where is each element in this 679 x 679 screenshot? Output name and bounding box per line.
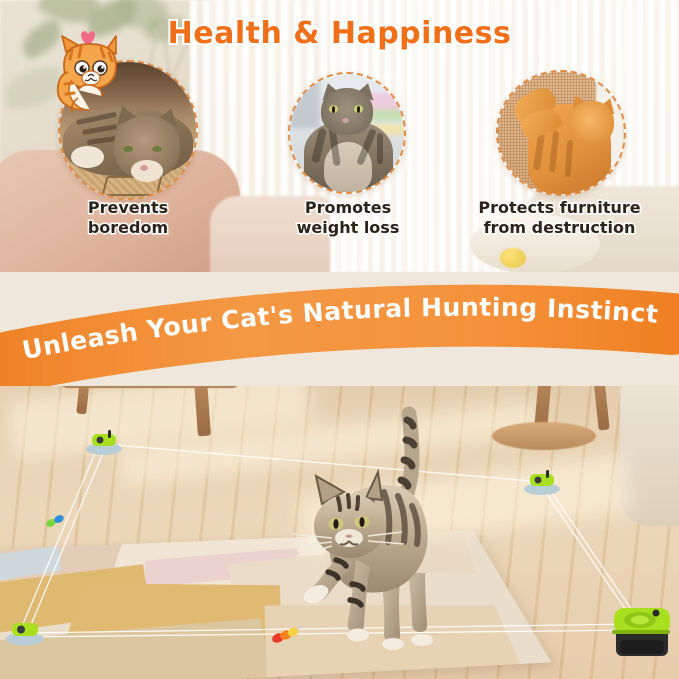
hunting-instinct-banner: Unleash Your Cat's Natural Hunting Insti…	[0, 278, 679, 386]
device-base-shadow	[620, 640, 664, 654]
fruit-bowl	[500, 248, 526, 268]
device-seam	[612, 630, 670, 634]
caption-line: boredom	[28, 218, 228, 238]
caption-line: weight loss	[258, 218, 438, 238]
cat-paw	[347, 629, 369, 642]
benefit-caption-2: Promotes weight loss	[258, 198, 438, 238]
corner-pulley-anchor[interactable]	[522, 468, 562, 500]
cat-ear-right	[366, 472, 382, 500]
anchor-post	[546, 470, 549, 478]
benefit-caption-3: Protects furniture from destruction	[440, 198, 679, 238]
cartoon-kitten-sticker	[48, 22, 134, 114]
corner-pulley-anchor[interactable]	[4, 616, 46, 650]
background-blur	[370, 109, 404, 121]
cat-muzzle	[131, 160, 164, 182]
cat-head	[321, 88, 373, 135]
benefit-photo-3	[496, 70, 626, 196]
caption-line: from destruction	[440, 218, 679, 238]
feather-toy-blue[interactable]	[44, 512, 70, 534]
cat-paw	[382, 638, 404, 650]
corner-pulley-anchor[interactable]	[84, 428, 124, 460]
cat-pupil	[332, 106, 335, 113]
anchor-pulley-icon	[17, 626, 25, 634]
chubby-cat-photo	[290, 74, 404, 192]
anchor-post	[108, 430, 111, 438]
cat-hind-leg-right	[408, 572, 427, 632]
caption-line: Promotes	[258, 198, 438, 218]
cat-nose	[342, 118, 349, 123]
scratching-cat-photo	[498, 72, 624, 194]
bottom-room-scene	[0, 386, 679, 679]
benefit-caption-1: Prevents boredom	[28, 198, 228, 238]
benefit-photo-2	[288, 72, 406, 194]
caption-line: Protects furniture	[440, 198, 679, 218]
background-blur	[290, 74, 320, 128]
device-spool-inner	[631, 616, 649, 625]
anchor-top	[92, 434, 116, 446]
heart-icon	[81, 31, 95, 45]
anchor-top	[530, 474, 554, 486]
cat-paw	[411, 634, 433, 646]
product-infographic: Health & Happiness	[0, 0, 679, 679]
automatic-cat-toy-device[interactable]	[610, 600, 676, 666]
caption-line: Prevents	[28, 198, 228, 218]
device-knob	[653, 610, 660, 617]
cat-paw	[71, 146, 104, 168]
cat-head	[569, 101, 614, 145]
cat-stripe	[377, 133, 383, 164]
anchor-pulley-icon	[535, 477, 542, 484]
anchor-pulley-icon	[97, 437, 104, 444]
walking-tabby-cat	[286, 402, 462, 658]
